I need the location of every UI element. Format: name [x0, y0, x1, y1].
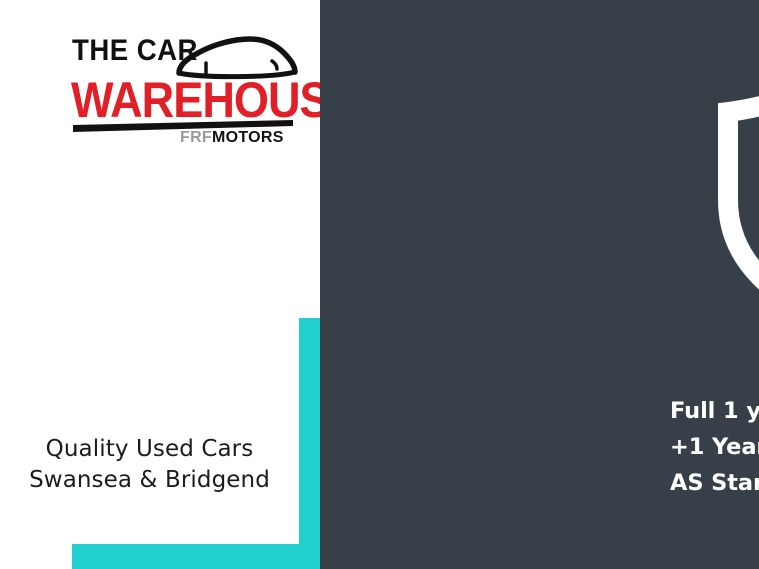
tagline-line-1: Quality Used Cars [0, 434, 299, 465]
logo-sub-motors: MOTORS [212, 129, 284, 146]
teal-accent-vertical [299, 318, 320, 569]
logo-sub-frfmotors: FRFMOTORS [180, 130, 284, 146]
promo-banner: THE CAR WAREHOUSE FRFMOTORS Quality Used… [0, 0, 759, 569]
headline: Full 1 year warranty +1 Year Spoticar As… [670, 393, 759, 501]
logo-line-warehouse: WAREHOUSE [71, 75, 358, 125]
right-panel: Full 1 year warranty +1 Year Spoticar As… [320, 0, 759, 569]
shield-check-icon [715, 50, 759, 330]
logo-sub-frf: FRF [180, 129, 212, 146]
headline-line-1: Full 1 year warranty [670, 393, 759, 429]
teal-accent-horizontal [72, 544, 320, 569]
tagline-line-2: Swansea & Bridgend [0, 465, 299, 496]
left-panel: THE CAR WAREHOUSE FRFMOTORS Quality Used… [0, 0, 320, 569]
brand-logo: THE CAR WAREHOUSE FRFMOTORS [72, 36, 292, 156]
headline-line-3: AS Standard on every car [670, 465, 759, 501]
tagline: Quality Used Cars Swansea & Bridgend [0, 434, 299, 496]
headline-line-2: +1 Year Spoticar Assistance [670, 429, 759, 465]
